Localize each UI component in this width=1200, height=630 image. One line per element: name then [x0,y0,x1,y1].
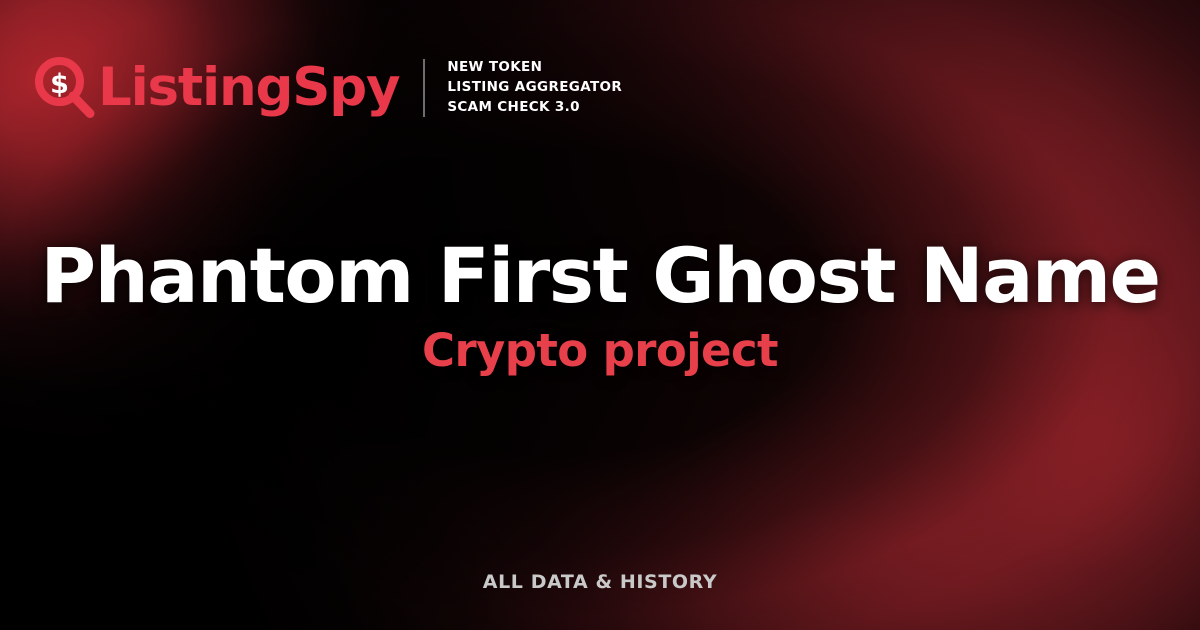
brand-tagline-line-2: LISTING AGGREGATOR [447,79,622,97]
footer-section: ALL DATA & HISTORY [0,573,1200,592]
brand-divider [423,59,425,117]
brand-tagline-line-1: NEW TOKEN [447,59,622,77]
footer-label: ALL DATA & HISTORY [0,573,1200,592]
brand-tagline: NEW TOKEN LISTING AGGREGATOR SCAM CHECK … [447,59,622,116]
brand-header: $ ListingSpy NEW TOKEN LISTING AGGREGATO… [32,55,622,121]
page-subtitle: Crypto project [40,327,1160,376]
brand-wordmark: ListingSpy [98,61,399,114]
brand-tagline-line-3: SCAM CHECK 3.0 [447,99,622,117]
svg-text:$: $ [50,69,69,100]
brand-logo[interactable]: $ ListingSpy [32,55,399,121]
hero-section: Phantom First Ghost Name Crypto project [0,236,1200,376]
page-title: Phantom First Ghost Name [40,236,1160,315]
og-card: $ ListingSpy NEW TOKEN LISTING AGGREGATO… [0,0,1200,630]
magnifier-dollar-icon: $ [32,55,98,121]
